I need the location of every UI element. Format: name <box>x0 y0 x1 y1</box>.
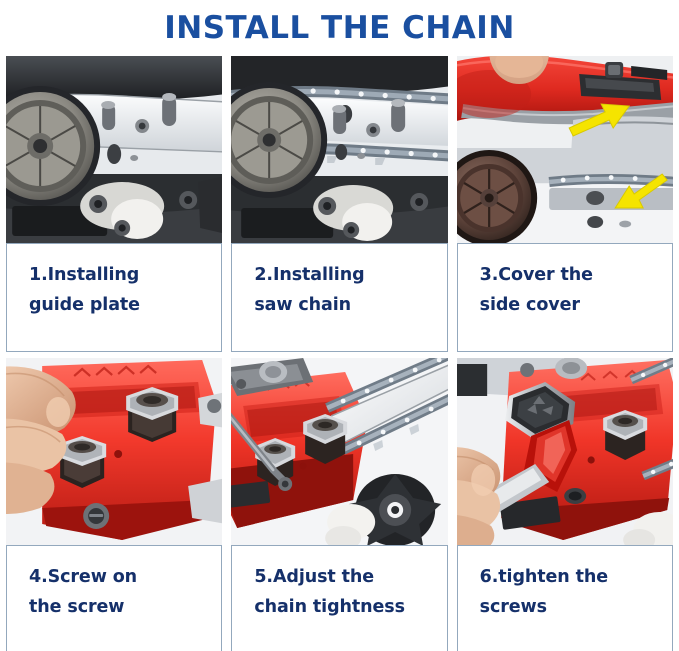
photo-installing-saw-chain <box>231 56 447 243</box>
caption-step-3-line2: side cover <box>480 290 672 320</box>
photo-adjust-the-chain-tightness <box>231 358 447 545</box>
steps-grid: 1.Installing guide plate <box>0 56 679 651</box>
caption-step-2-line2: saw chain <box>254 290 446 320</box>
step-panel-2: 2.Installing saw chain <box>231 56 447 352</box>
photo-screw-on-the-screw <box>6 358 222 545</box>
page-title: INSTALL THE CHAIN <box>164 10 515 46</box>
chain-tension-illustration <box>231 358 447 545</box>
caption-step-2: 2.Installing saw chain <box>231 243 447 352</box>
step-panel-5: 5.Adjust the chain tightness <box>231 358 447 651</box>
screw-on-illustration <box>6 358 222 545</box>
caption-step-1-line2: guide plate <box>29 290 221 320</box>
caption-step-6-line1: 6.tighten the <box>480 562 672 592</box>
caption-step-5-line1: 5.Adjust the <box>254 562 446 592</box>
step-panel-6: 6.tighten the screws <box>457 358 673 651</box>
caption-step-4: 4.Screw on the screw <box>6 545 222 651</box>
step-panel-4: 4.Screw on the screw <box>6 358 222 651</box>
caption-step-2-line1: 2.Installing <box>254 260 446 290</box>
hex-nut-right <box>126 387 178 442</box>
caption-step-1-line1: 1.Installing <box>29 260 221 290</box>
caption-step-4-line2: the screw <box>29 592 221 622</box>
step-panel-1: 1.Installing guide plate <box>6 56 222 352</box>
guide-plate-illustration <box>6 56 222 243</box>
photo-cover-the-side-cover <box>457 56 673 243</box>
page-header: INSTALL THE CHAIN <box>0 0 679 56</box>
caption-step-1: 1.Installing guide plate <box>6 243 222 352</box>
saw-chain-illustration <box>231 56 447 243</box>
caption-step-6: 6.tighten the screws <box>457 545 673 651</box>
caption-step-4-line1: 4.Screw on <box>29 562 221 592</box>
photo-installing-guide-plate <box>6 56 222 243</box>
caption-step-6-line2: screws <box>480 592 672 622</box>
caption-step-3: 3.Cover the side cover <box>457 243 673 352</box>
caption-step-5: 5.Adjust the chain tightness <box>231 545 447 651</box>
instruction-sheet: INSTALL THE CHAIN <box>0 0 679 651</box>
step-panel-3: 3.Cover the side cover <box>457 56 673 352</box>
tighten-screws-illustration <box>457 358 673 545</box>
photo-tighten-the-screws <box>457 358 673 545</box>
caption-step-5-line2: chain tightness <box>254 592 446 622</box>
caption-step-3-line1: 3.Cover the <box>480 260 672 290</box>
side-cover-illustration <box>457 56 673 243</box>
